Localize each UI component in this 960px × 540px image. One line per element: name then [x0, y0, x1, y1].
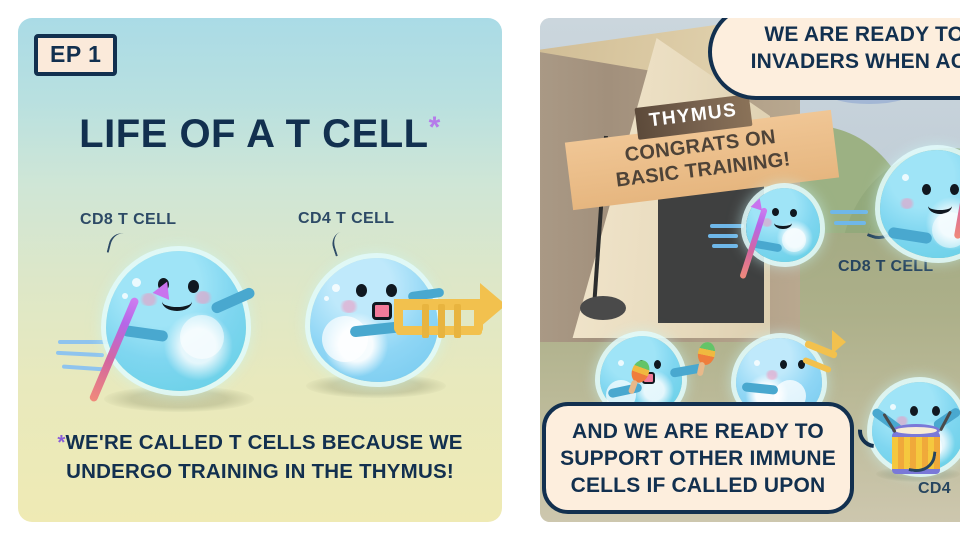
title-text: LIFE OF A T CELL	[79, 112, 428, 156]
trumpet-bell	[480, 283, 502, 327]
cd4-mouth	[372, 302, 392, 320]
eye-left	[922, 184, 931, 195]
speed-line	[834, 221, 866, 225]
speed-line	[830, 210, 868, 214]
caption-asterisk: *	[57, 431, 65, 454]
cell-sparkle	[902, 174, 909, 181]
bubble-bottom-line-2: SUPPORT OTHER IMMUNE	[560, 447, 836, 470]
speech-bubble-top: WE ARE READY TO K INVADERS WHEN ACTIV	[708, 18, 960, 100]
smile	[774, 217, 792, 229]
tent-pole-base	[580, 296, 626, 320]
small-trumpet-bell	[832, 330, 846, 354]
cell-sparkle	[890, 404, 896, 410]
label-cd4-t-cell-right: CD4	[918, 480, 951, 498]
episode-badge: EP 1	[34, 34, 117, 76]
caption: *WE'RE CALLED T CELLS BECAUSE WE UNDERGO…	[40, 428, 480, 486]
cell-sparkle	[324, 296, 329, 301]
pointer-line-cd4	[329, 229, 355, 256]
label-cd4-t-cell: CD4 T CELL	[298, 210, 394, 228]
eye-right	[654, 360, 661, 369]
eye-left	[780, 360, 787, 369]
cd4-t-cell-character	[310, 258, 438, 382]
label-cd8-t-cell-right: CD8 T CELL	[838, 258, 933, 276]
cell-highlight	[782, 228, 806, 252]
caption-line-2: UNDERGO TRAINING IN THE THYMUS!	[66, 460, 454, 483]
speech-bubble-bottom: AND WE ARE READY TO SUPPORT OTHER IMMUNE…	[542, 402, 854, 514]
eye-right	[790, 209, 797, 217]
speed-line	[62, 364, 106, 371]
comic-strip: EP 1 LIFE OF A T CELL* CD8 T CELL CD4 T …	[0, 0, 960, 540]
trumpet-valve	[454, 304, 461, 338]
trumpet-valve	[422, 304, 429, 338]
page-title: LIFE OF A T CELL*	[18, 111, 502, 157]
eye-left	[772, 208, 779, 216]
caption-line-1: WE'RE CALLED T CELLS BECAUSE WE	[66, 431, 463, 454]
drum-head	[892, 424, 940, 437]
cheek	[898, 198, 916, 209]
bubble-bottom-line-3: CELLS IF CALLED UPON	[571, 474, 826, 497]
bubble-top-line-1: WE ARE READY TO K	[764, 23, 960, 46]
cell-highlight	[322, 316, 368, 362]
cell-highlight	[180, 315, 224, 359]
cell-sparkle	[618, 360, 624, 366]
cd4-eye-left	[356, 284, 367, 297]
cd4-eye-right	[386, 284, 397, 297]
eye-left	[910, 406, 918, 416]
cell-sparkle	[754, 360, 760, 366]
trumpet-valve	[438, 304, 445, 338]
cd4-cheek	[338, 300, 360, 313]
speed-line	[710, 224, 744, 228]
speed-line	[712, 244, 738, 248]
eye-right	[932, 406, 940, 416]
cell-sparkle	[132, 278, 141, 287]
cell-sparkle	[332, 284, 340, 292]
label-cd8-t-cell: CD8 T CELL	[80, 211, 176, 229]
eye-right	[950, 184, 959, 195]
pointer-line-cd8	[107, 231, 132, 257]
panel-right: CONGRATS ON BASIC TRAINING! THYMUS CD8 T…	[540, 18, 960, 522]
speed-line	[708, 234, 738, 238]
trumpet-loop-left	[394, 299, 403, 333]
speed-line	[56, 351, 104, 357]
cheek	[764, 370, 780, 380]
cd8-cheek-right	[192, 291, 214, 304]
title-asterisk: *	[429, 111, 441, 144]
panel-left: EP 1 LIFE OF A T CELL* CD8 T CELL CD4 T …	[18, 18, 502, 522]
cell-sparkle	[122, 293, 128, 299]
bubble-top-line-2: INVADERS WHEN ACTIV	[751, 50, 960, 73]
speed-line	[58, 340, 110, 344]
bubble-bottom-line-1: AND WE ARE READY TO	[572, 420, 824, 443]
